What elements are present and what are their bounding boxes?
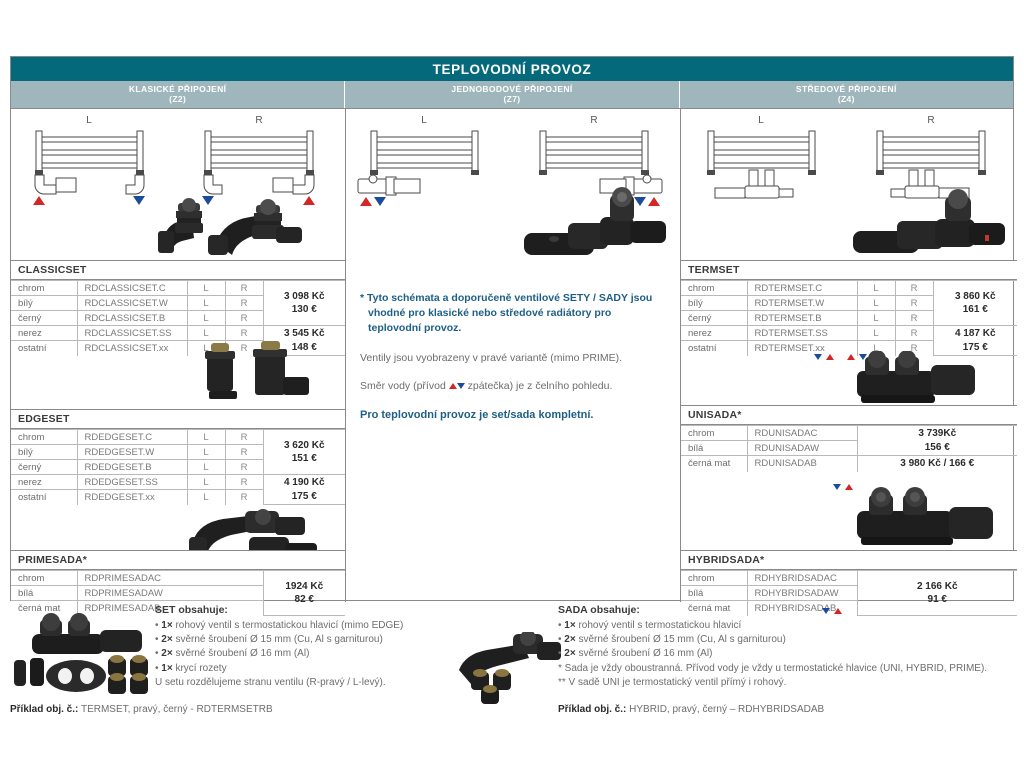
table-row: nerez RDEDGESET.SS L R 4 190 Kč 175 € — [11, 475, 345, 490]
flow-arrow-supply-red — [33, 196, 45, 205]
cell-right: R — [895, 296, 933, 311]
legend-sada-note-2: ** V sadě UNI je termostatický ventil př… — [558, 676, 1018, 690]
product-photo-classicset — [156, 197, 306, 259]
cell-code: RDEDGESET.W — [77, 445, 187, 460]
table-classicset-title: CLASSICSET — [11, 261, 345, 280]
example-sada-value: HYBRID, pravý, černý – RDHYBRIDSADAB — [626, 704, 824, 715]
cell-code: RDUNISADAB — [747, 456, 857, 472]
legend-sada-note-1: * Sada je vždy oboustranná. Přívod vody … — [558, 662, 1018, 676]
cell-finish: ostatní — [681, 341, 747, 356]
legend-sada-title: SADA obsahuje: — [558, 604, 1018, 616]
column-header-center-code: (Z4) — [838, 95, 855, 105]
table-termset: TERMSET chrom RDTERMSET.C L R 3 860 Kč 1… — [681, 260, 1017, 356]
cell-finish: bílá — [681, 441, 747, 456]
example-set: Příklad obj. č.: TERMSET, pravý, černý -… — [10, 704, 273, 715]
cell-finish: bílý — [11, 296, 77, 311]
product-photo-hybridsada — [849, 485, 999, 551]
legend-text: svěrné šroubení Ø 16 mm (Al) — [173, 648, 310, 659]
flow-arrow-return-blue — [374, 197, 386, 206]
column-header-single-code: (Z7) — [504, 95, 521, 105]
legend-qty: 2× — [564, 634, 575, 645]
example-sada-label: Příklad obj. č.: — [558, 704, 626, 715]
table-row: nerez RDCLASSICSET.SS L R 3 545 Kč 148 € — [11, 326, 345, 341]
cell-price-group-1: 3 098 Kč 130 € — [263, 281, 345, 326]
price-eur: 130 € — [292, 304, 317, 315]
column-classic: L R — [11, 109, 346, 602]
cell-right: R — [225, 430, 263, 445]
cell-left: L — [187, 296, 225, 311]
cell-finish: nerez — [681, 326, 747, 341]
table-edgeset-title: EDGESET — [11, 410, 345, 429]
flow-arrow-return-blue — [457, 383, 465, 389]
cell-code: RDTERMSET.C — [747, 281, 857, 296]
cell-right: R — [225, 475, 263, 490]
legend-text: svěrné šroubení Ø 15 mm (Cu, Al s garnit… — [173, 634, 383, 645]
table-row: chrom RDEDGESET.C L R 3 620 Kč 151 € — [11, 430, 345, 445]
schematic-label-l: L — [758, 115, 764, 126]
price-czk: 3 739Kč — [918, 428, 956, 439]
cell-code: RDCLASSICSET.xx — [77, 341, 187, 356]
table-hybridsada-title: HYBRIDSADA* — [681, 551, 1017, 570]
cell-left: L — [187, 430, 225, 445]
legend-text: rohový ventil s termostatickou hlavicí — [576, 620, 742, 631]
column-header-classic: KLASICKÉ PŘIPOJENÍ (Z2) — [11, 81, 345, 108]
legend-text: svěrné šroubení Ø 16 mm (Al) — [576, 648, 713, 659]
table-edgeset-grid: chrom RDEDGESET.C L R 3 620 Kč 151 € bíl… — [11, 429, 345, 505]
table-edgeset: EDGESET chrom RDEDGESET.C L R 3 620 Kč 1… — [11, 409, 345, 505]
note-valves: Ventily jsou vyobrazeny v pravé variantě… — [360, 351, 664, 366]
example-set-value: TERMSET, pravý, černý - RDTERMSETRB — [78, 704, 272, 715]
table-row: černá mat RDUNISADAB 3 980 Kč / 166 € — [681, 456, 1017, 472]
table-row: chrom RDCLASSICSET.C L R 3 098 Kč 130 € — [11, 281, 345, 296]
flow-arrow-return-blue — [133, 196, 145, 205]
cell-right: R — [225, 460, 263, 475]
cell-left: L — [187, 490, 225, 505]
flow-arrow-supply-red — [360, 197, 372, 206]
cell-price-group-1: 3 620 Kč 151 € — [263, 430, 345, 475]
cell-finish: chrom — [11, 281, 77, 296]
note-direction: Směr vody (přívod zpátečka) je z čelního… — [360, 379, 664, 394]
cell-code: RDTERMSET.W — [747, 296, 857, 311]
cell-code: RDPRIMESADAC — [77, 571, 263, 586]
product-photo-unisada — [851, 351, 991, 411]
cell-price-group-2: 4 190 Kč 175 € — [263, 475, 345, 505]
cell-finish: nerez — [11, 326, 77, 341]
cell-right: R — [895, 311, 933, 326]
cell-code: RDHYBRIDSADAW — [747, 586, 857, 601]
cell-left: L — [187, 281, 225, 296]
cell-code: RDEDGESET.SS — [77, 475, 187, 490]
price-czk: 4 187 Kč — [955, 328, 996, 339]
table-termset-grid: chrom RDTERMSET.C L R 3 860 Kč 161 € bíl… — [681, 280, 1017, 356]
price-czk: 3 860 Kč — [955, 291, 996, 302]
cell-finish: chrom — [11, 571, 77, 586]
legend-text: rohový ventil s termostatickou hlavicí (… — [173, 620, 404, 631]
table-unisada: UNISADA* chrom RDUNISADAC 3 739Kč 156 € … — [681, 405, 1017, 472]
cell-code: RDCLASSICSET.W — [77, 296, 187, 311]
price-czk: 3 098 Kč — [284, 291, 325, 302]
main-table: TEPLOVODNÍ PROVOZ KLASICKÉ PŘIPOJENÍ (Z2… — [10, 56, 1014, 601]
cell-right: R — [895, 281, 933, 296]
cell-left: L — [857, 311, 895, 326]
cell-right: R — [225, 490, 263, 505]
schematic-label-l: L — [86, 115, 92, 126]
cell-finish: chrom — [681, 281, 747, 296]
table-primesada-title: PRIMESADA* — [11, 551, 345, 570]
legend-qty: 1× — [161, 663, 172, 674]
product-photo-set-contents — [10, 606, 160, 702]
cell-left: L — [187, 475, 225, 490]
legend-qty: 2× — [564, 648, 575, 659]
cell-code: RDTERMSET.SS — [747, 326, 857, 341]
price-czk: 2 166 Kč — [917, 581, 958, 592]
cell-finish: ostatní — [11, 490, 77, 505]
cell-finish: bílá — [681, 586, 747, 601]
cell-code: RDEDGESET.B — [77, 460, 187, 475]
price-czk: 4 190 Kč — [284, 477, 325, 488]
product-photo-singleset — [514, 187, 674, 259]
columns-body: L R — [11, 109, 1013, 602]
table-termset-title: TERMSET — [681, 261, 1017, 280]
column-header-classic-code: (Z2) — [169, 95, 186, 105]
cell-price: 3 739Kč 156 € — [857, 426, 1017, 456]
column-single: L R — [346, 109, 681, 602]
legend-sada-item-1: • 1× rohový ventil s termostatickou hlav… — [558, 619, 1018, 633]
schematic-label-r: R — [255, 115, 262, 126]
sheet-title-text: TEPLOVODNÍ PROVOZ — [433, 62, 592, 77]
cell-left: L — [187, 460, 225, 475]
column-headers-row: KLASICKÉ PŘIPOJENÍ (Z2) JEDNOBODOVÉ PŘIP… — [11, 81, 1013, 109]
cell-right: R — [225, 296, 263, 311]
example-sada: Příklad obj. č.: HYBRID, pravý, černý – … — [558, 704, 824, 715]
price-eur: 175 € — [292, 491, 317, 502]
notes-block: * Tyto schémata a doporučeně ventilové S… — [346, 277, 680, 423]
price-czk: 3 545 Kč — [284, 328, 325, 339]
cell-price-group-1: 3 860 Kč 161 € — [933, 281, 1017, 326]
table-row: chrom RDHYBRIDSADAC 2 166 Kč 91 € — [681, 571, 1017, 586]
table-row: nerez RDTERMSET.SS L R 4 187 Kč 175 € — [681, 326, 1017, 341]
cell-left: L — [187, 326, 225, 341]
note-starred: * Tyto schémata a doporučeně ventilové S… — [360, 291, 664, 337]
note-complete: Pro teplovodní provoz je set/sada komple… — [360, 408, 664, 423]
legend-qty: 1× — [564, 620, 575, 631]
cell-code: RDCLASSICSET.SS — [77, 326, 187, 341]
cell-right: R — [225, 281, 263, 296]
cell-code: RDTERMSET.B — [747, 311, 857, 326]
cell-code: RDCLASSICSET.B — [77, 311, 187, 326]
cell-right: R — [225, 326, 263, 341]
cell-finish: černý — [681, 311, 747, 326]
flow-arrow-return-blue — [814, 347, 822, 365]
cell-right: R — [895, 326, 933, 341]
product-photo-sada-contents — [453, 632, 563, 704]
table-row: chrom RDUNISADAC 3 739Kč 156 € — [681, 426, 1017, 441]
flow-arrow-supply-red — [826, 347, 834, 365]
table-row: chrom RDPRIMESADAC 1924 Kč 82 € — [11, 571, 345, 586]
schematic-label-r: R — [590, 115, 597, 126]
price-eur: 156 € — [925, 442, 950, 453]
legend-qty: 1× — [161, 620, 172, 631]
product-photo-termset — [849, 187, 1009, 259]
cell-left: L — [857, 326, 895, 341]
table-unisada-grid: chrom RDUNISADAC 3 739Kč 156 € bílá RDUN… — [681, 425, 1017, 472]
legend-sada: SADA obsahuje: • 1× rohový ventil s term… — [558, 604, 1018, 690]
cell-code: RDUNISADAC — [747, 426, 857, 441]
cell-code: RDHYBRIDSADAC — [747, 571, 857, 586]
cell-price-black: 3 980 Kč / 166 € — [857, 456, 1017, 472]
price-czk: 1924 Kč — [285, 581, 323, 592]
cell-left: L — [857, 296, 895, 311]
legend-qty: 2× — [161, 648, 172, 659]
column-center: L R — [681, 109, 1017, 602]
schematic-label-r: R — [927, 115, 934, 126]
cell-finish: chrom — [681, 571, 747, 586]
price-sheet-page: TEPLOVODNÍ PROVOZ KLASICKÉ PŘIPOJENÍ (Z2… — [0, 0, 1024, 768]
cell-finish: bílá — [11, 586, 77, 601]
legend-sada-item-2: • 2× svěrné šroubení Ø 15 mm (Cu, Al s g… — [558, 633, 1018, 647]
cell-code: RDEDGESET.C — [77, 430, 187, 445]
cell-right: R — [225, 311, 263, 326]
sheet-title: TEPLOVODNÍ PROVOZ — [11, 57, 1013, 81]
table-unisada-title: UNISADA* — [681, 406, 1017, 425]
cell-finish: ostatní — [11, 341, 77, 356]
flow-arrow-return-blue — [833, 477, 841, 495]
price-czk: 3 620 Kč — [284, 440, 325, 451]
price-eur: 151 € — [292, 453, 317, 464]
cell-finish: bílý — [681, 296, 747, 311]
column-header-single: JEDNOBODOVÉ PŘIPOJENÍ (Z7) — [345, 81, 679, 108]
legend-text: svěrné šroubení Ø 15 mm (Cu, Al s garnit… — [576, 634, 786, 645]
cell-code: RDEDGESET.xx — [77, 490, 187, 505]
cell-left: L — [857, 281, 895, 296]
cell-left: L — [187, 311, 225, 326]
cell-finish: bílý — [11, 445, 77, 460]
legend-text: krycí rozety — [173, 663, 227, 674]
cell-left: L — [187, 445, 225, 460]
schematic-label-l: L — [421, 115, 427, 126]
cell-finish: chrom — [11, 430, 77, 445]
note-direction-pre: Směr vody (přívod — [360, 380, 449, 392]
note-direction-post: zpátečka) je z čelního pohledu. — [465, 380, 613, 392]
legend-sada-item-3: • 2× svěrné šroubení Ø 16 mm (Al) — [558, 647, 1018, 661]
cell-finish: černý — [11, 460, 77, 475]
cell-code: RDUNISADAW — [747, 441, 857, 456]
price-eur: 161 € — [963, 304, 988, 315]
legend-qty: 2× — [161, 634, 172, 645]
cell-finish: nerez — [11, 475, 77, 490]
legend-area: SET obsahuje: • 1× rohový ventil s termo… — [10, 604, 1014, 734]
example-set-label: Příklad obj. č.: — [10, 704, 78, 715]
flow-arrow-supply-red — [449, 383, 457, 389]
column-header-center: STŘEDOVÉ PŘIPOJENÍ (Z4) — [680, 81, 1013, 108]
cell-right: R — [225, 445, 263, 460]
legend-set-title: SET obsahuje: — [155, 604, 555, 616]
table-row: chrom RDTERMSET.C L R 3 860 Kč 161 € — [681, 281, 1017, 296]
cell-code: RDTERMSET.xx — [747, 341, 857, 356]
cell-finish: černý — [11, 311, 77, 326]
cell-finish: černá mat — [681, 456, 747, 472]
cell-finish: chrom — [681, 426, 747, 441]
product-photo-edgeset — [201, 341, 321, 401]
cell-code: RDCLASSICSET.C — [77, 281, 187, 296]
cell-code: RDPRIMESADAW — [77, 586, 263, 601]
